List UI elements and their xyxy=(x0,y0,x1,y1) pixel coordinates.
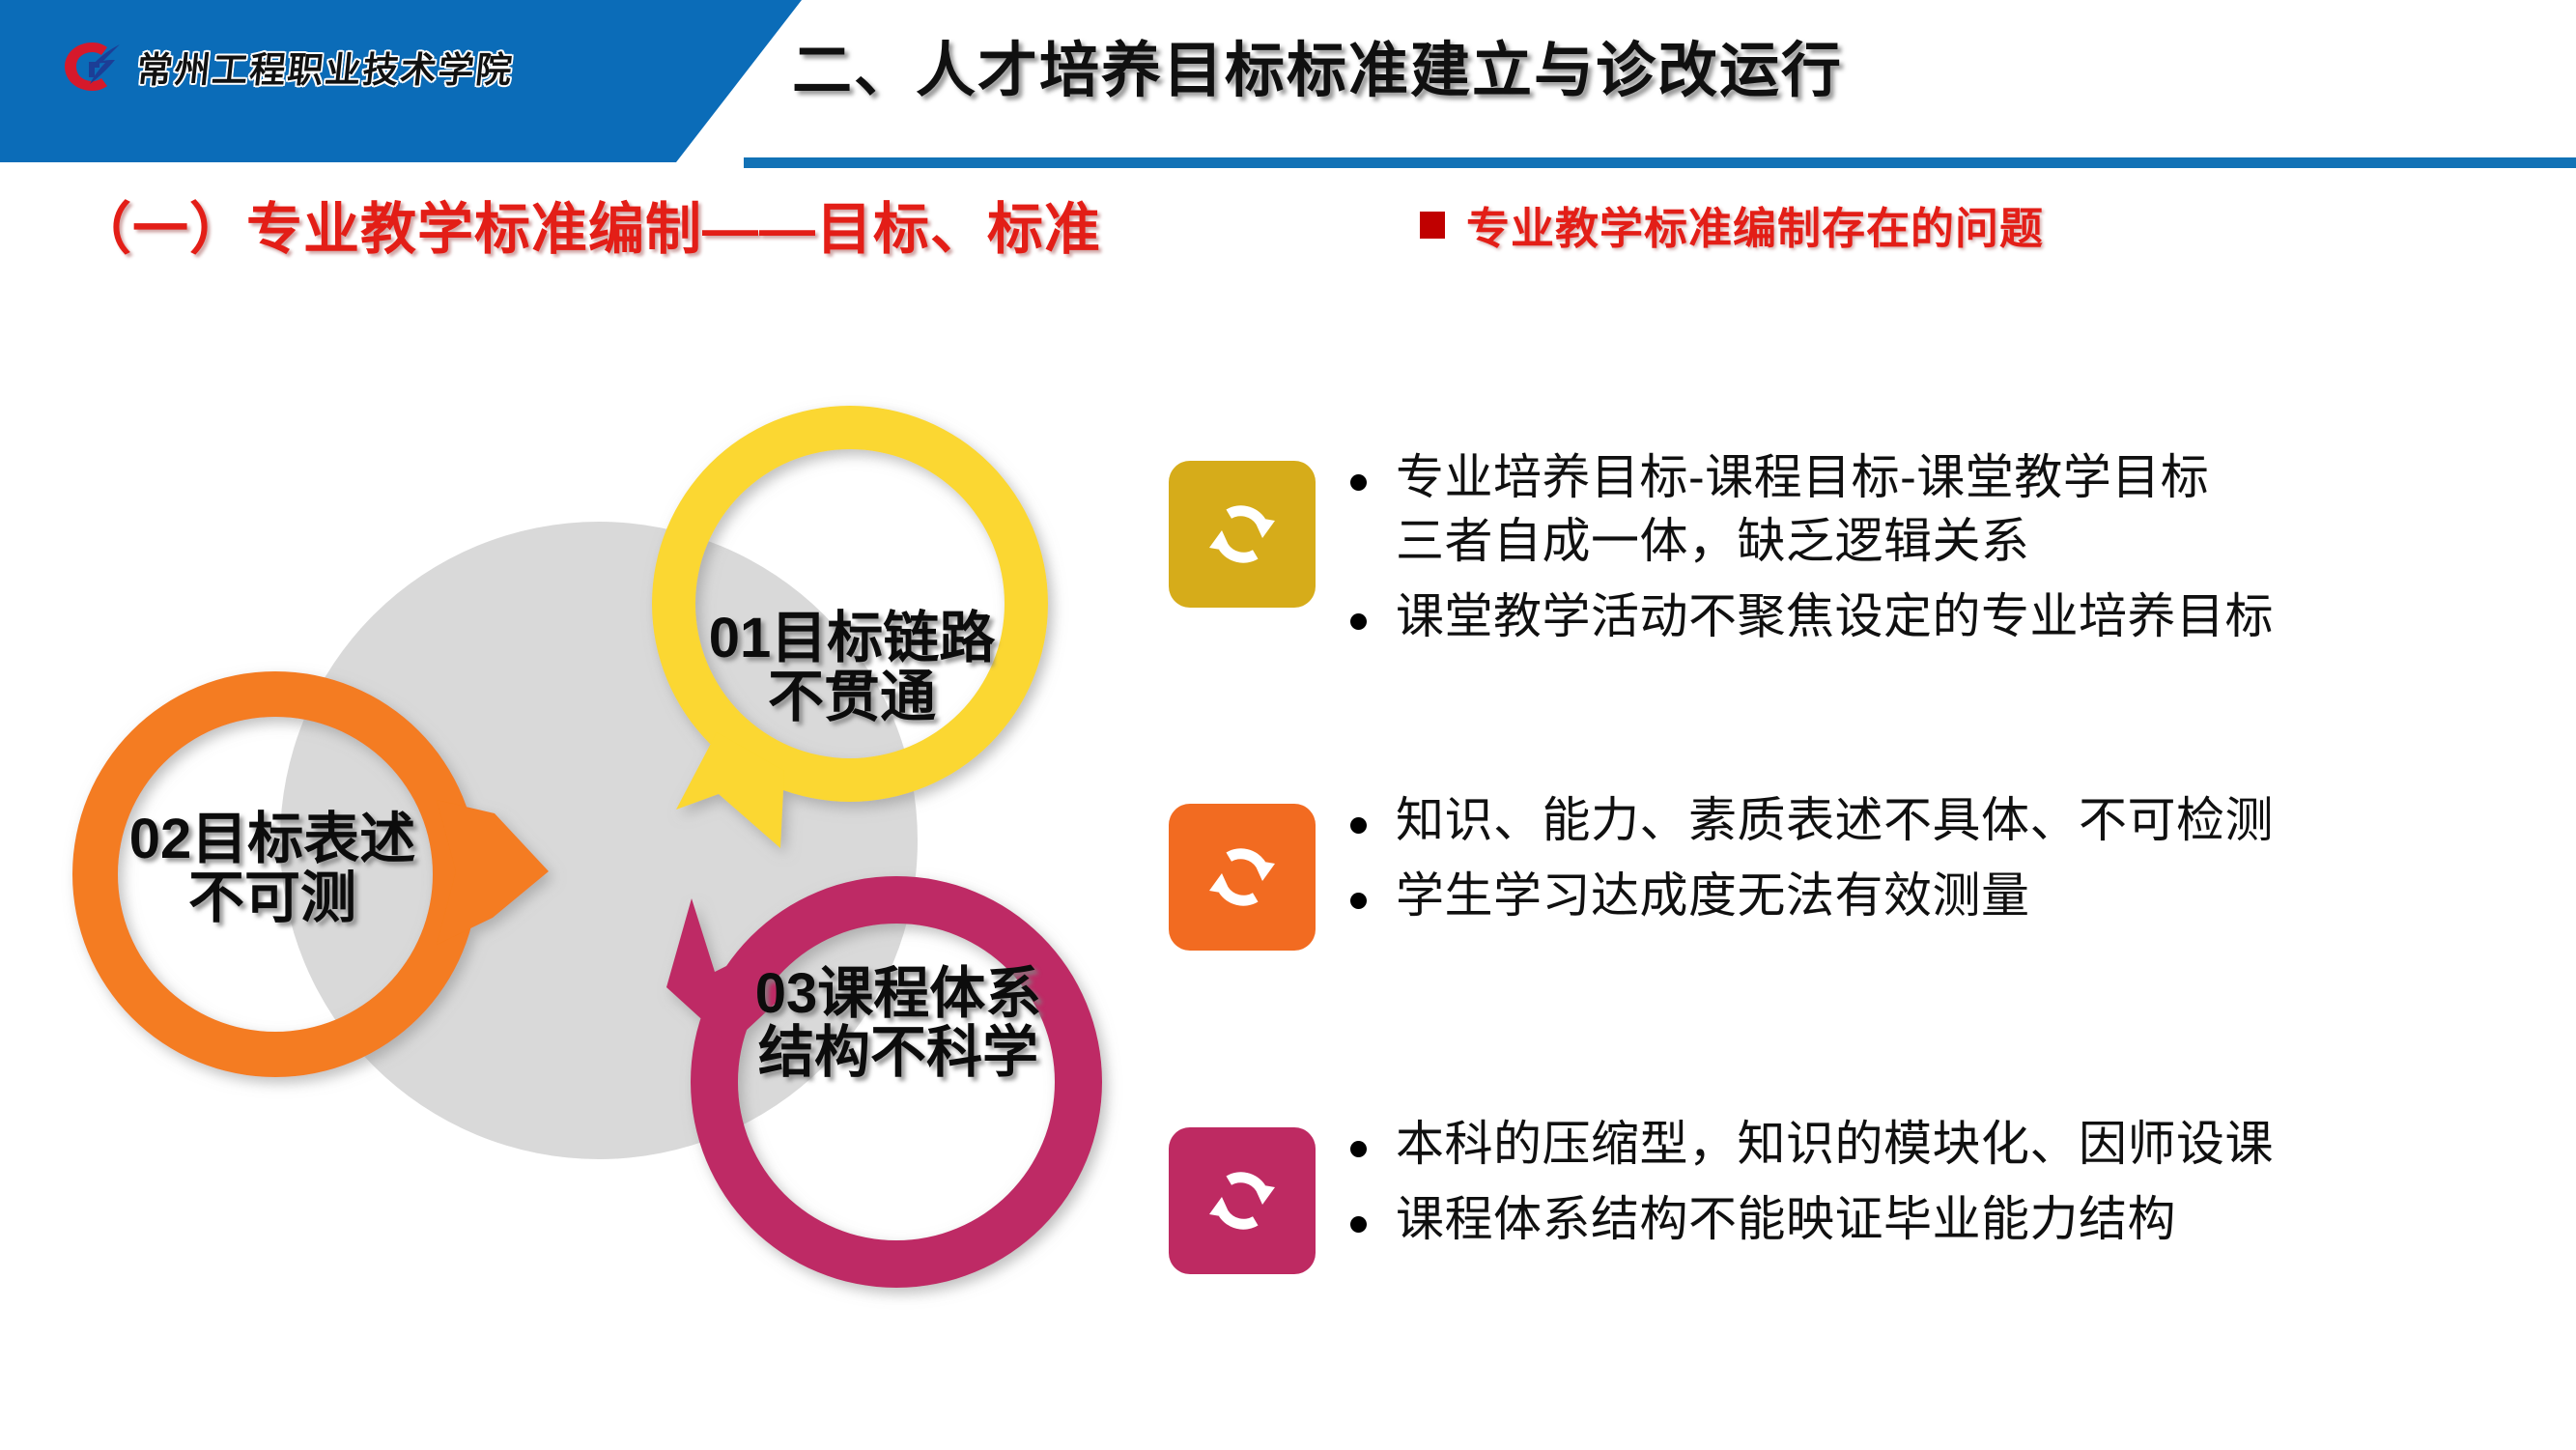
bullet-item: 课堂教学活动不聚焦设定的专业培养目标 xyxy=(1350,584,2274,648)
bullet-item: 学生学习达成度无法有效测量 xyxy=(1350,864,2274,927)
bullet-dot-icon xyxy=(1350,817,1367,834)
three-ring-diagram: 01目标链路 不贯通 02目标表述 不可测 03课程体系 结构不科学 xyxy=(0,319,1159,1401)
ring-01-label-line1: 01目标链路 xyxy=(649,609,1055,668)
bullet-item: 本科的压缩型，知识的模块化、因师设课 xyxy=(1350,1112,2274,1176)
bullet-text: 课程体系结构不能映证毕业能力结构 xyxy=(1396,1187,2176,1251)
subtitle-row: （一）专业教学标准编制——目标、标准 专业教学标准编制存在的问题 xyxy=(0,184,2576,276)
subtitle-secondary: 专业教学标准编制存在的问题 xyxy=(1420,193,2044,256)
ring-02-label: 02目标表述 不可测 xyxy=(70,810,475,928)
ring-02-label-line2: 不可测 xyxy=(70,868,475,927)
bullet-dot-icon xyxy=(1350,893,1367,909)
bullet-list-02: 知识、能力、素质表述不具体、不可检测 学生学习达成度无法有效测量 xyxy=(1350,782,2274,939)
bullet-text: 本科的压缩型，知识的模块化、因师设课 xyxy=(1396,1112,2274,1176)
refresh-cycle-icon-tile-01 xyxy=(1169,461,1316,608)
content-row-03: 本科的压缩型，知识的模块化、因师设课 课程体系结构不能映证毕业能力结构 xyxy=(1169,1106,2274,1274)
bullet-list-01: 专业培养目标-课程目标-课堂教学目标 三者自成一体，缺乏逻辑关系 课堂教学活动不… xyxy=(1350,440,2274,660)
refresh-cycle-icon-tile-03 xyxy=(1169,1127,1316,1274)
refresh-cycle-icon xyxy=(1198,1156,1287,1245)
refresh-cycle-icon-tile-02 xyxy=(1169,804,1316,951)
ring-02-label-line1: 02目标表述 xyxy=(70,810,475,868)
content-row-01: 专业培养目标-课程目标-课堂教学目标 三者自成一体，缺乏逻辑关系 课堂教学活动不… xyxy=(1169,440,2274,660)
bullet-text: 专业培养目标-课程目标-课堂教学目标 三者自成一体，缺乏逻辑关系 xyxy=(1396,445,2209,573)
university-crest-icon xyxy=(60,39,124,95)
bullet-dot-icon xyxy=(1350,1216,1367,1233)
ring-03-label: 03课程体系 结构不科学 xyxy=(695,964,1101,1083)
ring-03-label-line2: 结构不科学 xyxy=(695,1023,1101,1082)
ring-01-label: 01目标链路 不贯通 xyxy=(649,609,1055,727)
bullet-item: 课程体系结构不能映证毕业能力结构 xyxy=(1350,1187,2274,1251)
refresh-cycle-icon xyxy=(1198,490,1287,579)
slide-canvas: 常州工程职业技术学院 二、人才培养目标标准建立与诊改运行 （一）专业教学标准编制… xyxy=(0,0,2576,1450)
bullet-text: 学生学习达成度无法有效测量 xyxy=(1396,864,2030,927)
university-logo: 常州工程职业技术学院 xyxy=(60,37,514,97)
bullet-dot-icon xyxy=(1350,1141,1367,1157)
bullet-dot-icon xyxy=(1350,613,1367,630)
bullet-dot-icon xyxy=(1350,474,1367,491)
square-bullet-icon xyxy=(1420,212,1445,239)
page-title: 二、人才培养目标标准建立与诊改运行 xyxy=(792,21,1843,108)
ring-01-label-line2: 不贯通 xyxy=(649,668,1055,726)
refresh-cycle-icon xyxy=(1198,833,1287,922)
content-row-02: 知识、能力、素质表述不具体、不可检测 学生学习达成度无法有效测量 xyxy=(1169,782,2274,951)
university-name-text: 常州工程职业技术学院 xyxy=(134,41,517,93)
bullet-item: 专业培养目标-课程目标-课堂教学目标 三者自成一体，缺乏逻辑关系 xyxy=(1350,445,2274,573)
bullet-text: 知识、能力、素质表述不具体、不可检测 xyxy=(1396,788,2274,852)
bullet-text: 课堂教学活动不聚焦设定的专业培养目标 xyxy=(1396,584,2274,648)
section-subtitle: （一）专业教学标准编制——目标、标准 xyxy=(75,184,1101,265)
bullet-item: 知识、能力、素质表述不具体、不可检测 xyxy=(1350,788,2274,852)
title-underline-rule xyxy=(744,157,2576,168)
ring-03-label-line1: 03课程体系 xyxy=(695,964,1101,1023)
bullet-list-03: 本科的压缩型，知识的模块化、因师设课 课程体系结构不能映证毕业能力结构 xyxy=(1350,1106,2274,1263)
subtitle-secondary-text: 专业教学标准编制存在的问题 xyxy=(1466,193,2044,256)
